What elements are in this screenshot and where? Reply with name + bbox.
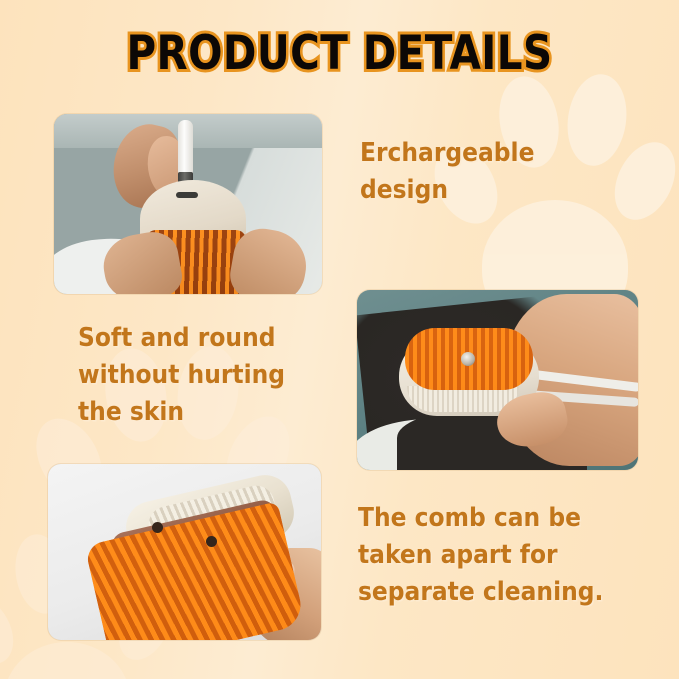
photo-scene bbox=[54, 114, 322, 294]
detachable-comb-head bbox=[84, 501, 305, 640]
photo-scene bbox=[48, 464, 321, 640]
charging-port bbox=[176, 192, 198, 198]
page-title: PRODUCT DETAILS bbox=[48, 28, 632, 80]
caption-rechargeable: Erchargeable design bbox=[360, 135, 648, 209]
product-details-infographic: PRODUCT DETAILS Erchargeable design Soft… bbox=[0, 0, 679, 679]
steam-nozzle bbox=[461, 352, 475, 366]
usb-cable bbox=[178, 120, 193, 178]
photo-handheld-brush bbox=[357, 290, 638, 470]
paw-toe bbox=[0, 587, 24, 673]
steam-hole bbox=[206, 536, 217, 547]
caption-soft-and-round: Soft and round without hurting the skin bbox=[78, 320, 348, 431]
steam-hole bbox=[152, 522, 163, 533]
caption-separate-cleaning: The comb can be taken apart for separate… bbox=[358, 500, 646, 611]
photo-scene bbox=[357, 290, 638, 470]
paw-pad bbox=[4, 642, 130, 679]
photo-charging-brush bbox=[54, 114, 322, 294]
photo-detached-comb bbox=[48, 464, 321, 640]
